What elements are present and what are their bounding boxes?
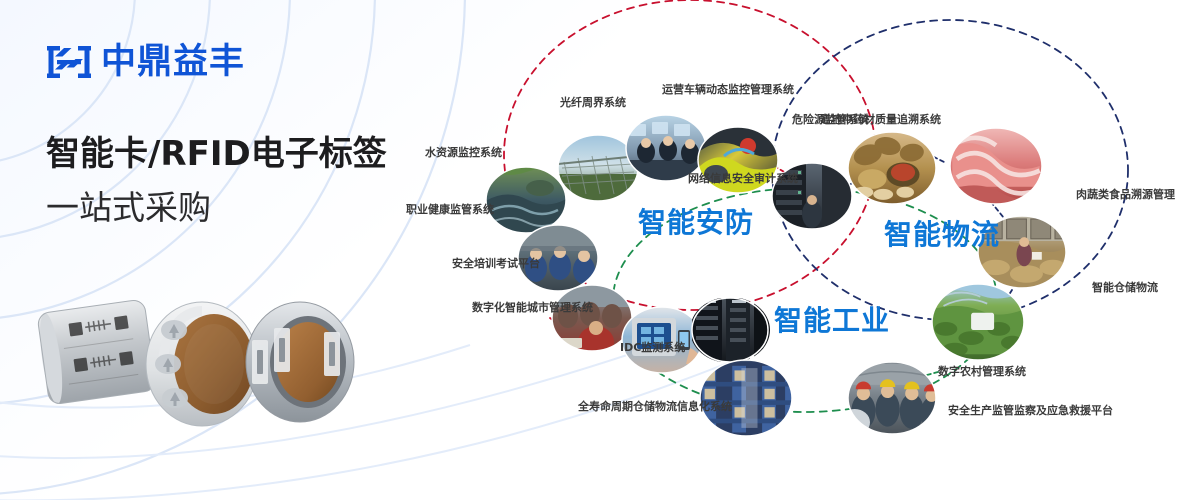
category-label-security: 智能安防 bbox=[638, 208, 754, 238]
bubble-water-resource-monitor bbox=[484, 162, 568, 234]
headline: 智能卡/RFID电子标签 一站式采购 bbox=[46, 131, 446, 231]
node-label-safety-production-rescue: 安全生产监管监察及应急救援平台 bbox=[948, 404, 1113, 417]
bubble-tcm-quality-trace bbox=[848, 132, 936, 204]
headline-line-1: 智能卡/RFID电子标签 bbox=[46, 131, 446, 177]
node-label-occupational-health: 职业健康监管系统 bbox=[406, 203, 494, 216]
brand-name: 中鼎益丰 bbox=[101, 42, 245, 82]
node-label-idc-monitoring: IDC监测系统 bbox=[620, 341, 685, 354]
left-panel: 中鼎益丰 智能卡/RFID电子标签 一站式采购 bbox=[0, 0, 460, 500]
node-label-digital-city-management: 数字化智能城市管理系统 bbox=[472, 301, 593, 314]
bubble-digital-city-management bbox=[622, 307, 702, 373]
category-label-industry: 智能工业 bbox=[774, 306, 890, 336]
bubble-idc-monitoring bbox=[692, 298, 772, 362]
node-label-water-resource-monitor: 水资源监控系统 bbox=[425, 146, 502, 159]
bubble-safety-production-rescue bbox=[839, 362, 942, 435]
ecosystem-diagram: 智能安防 智能物流 智能工业 光纤周界系统 运营车辆动态监控管理系统 危险源监管… bbox=[430, 0, 1200, 500]
node-label-vehicle-dynamic-monitor: 运营车辆动态监控管理系统 bbox=[662, 83, 794, 96]
bubble-hazard-source-regulation bbox=[696, 124, 780, 198]
headline-line-2: 一站式采购 bbox=[46, 185, 446, 231]
banner-stage: 中鼎益丰 智能卡/RFID电子标签 一站式采购 bbox=[0, 0, 1200, 500]
node-label-tcm-quality-trace: 道地中药材质量追溯系统 bbox=[820, 113, 941, 126]
node-label-optical-fiber-perimeter: 光纤周界系统 bbox=[560, 96, 626, 109]
node-label-safety-training-exam: 安全培训考试平台 bbox=[452, 257, 540, 270]
rfid-label-rolls-image bbox=[28, 288, 358, 448]
diagram-canvas bbox=[430, 0, 1200, 500]
node-label-meat-veg-food-trace: 肉蔬类食品溯源管理 bbox=[1076, 188, 1175, 201]
node-label-digital-rural-management: 数字农村管理系统 bbox=[938, 365, 1026, 378]
node-label-smart-warehouse-logistics: 智能仓储物流 bbox=[1092, 281, 1158, 294]
zdyf-emblem-icon bbox=[46, 42, 92, 82]
bubble-meat-veg-food-trace bbox=[950, 128, 1042, 210]
brand-logo[interactable]: 中鼎益丰 bbox=[46, 42, 245, 82]
node-label-lifecycle-warehouse-info: 全寿命周期仓储物流信息化系统 bbox=[578, 400, 732, 413]
node-label-network-security-audit: 网络信息安全审计系统 bbox=[688, 172, 798, 185]
category-label-logistics: 智能物流 bbox=[884, 220, 1000, 250]
bubble-lifecycle-warehouse-info bbox=[700, 360, 794, 436]
